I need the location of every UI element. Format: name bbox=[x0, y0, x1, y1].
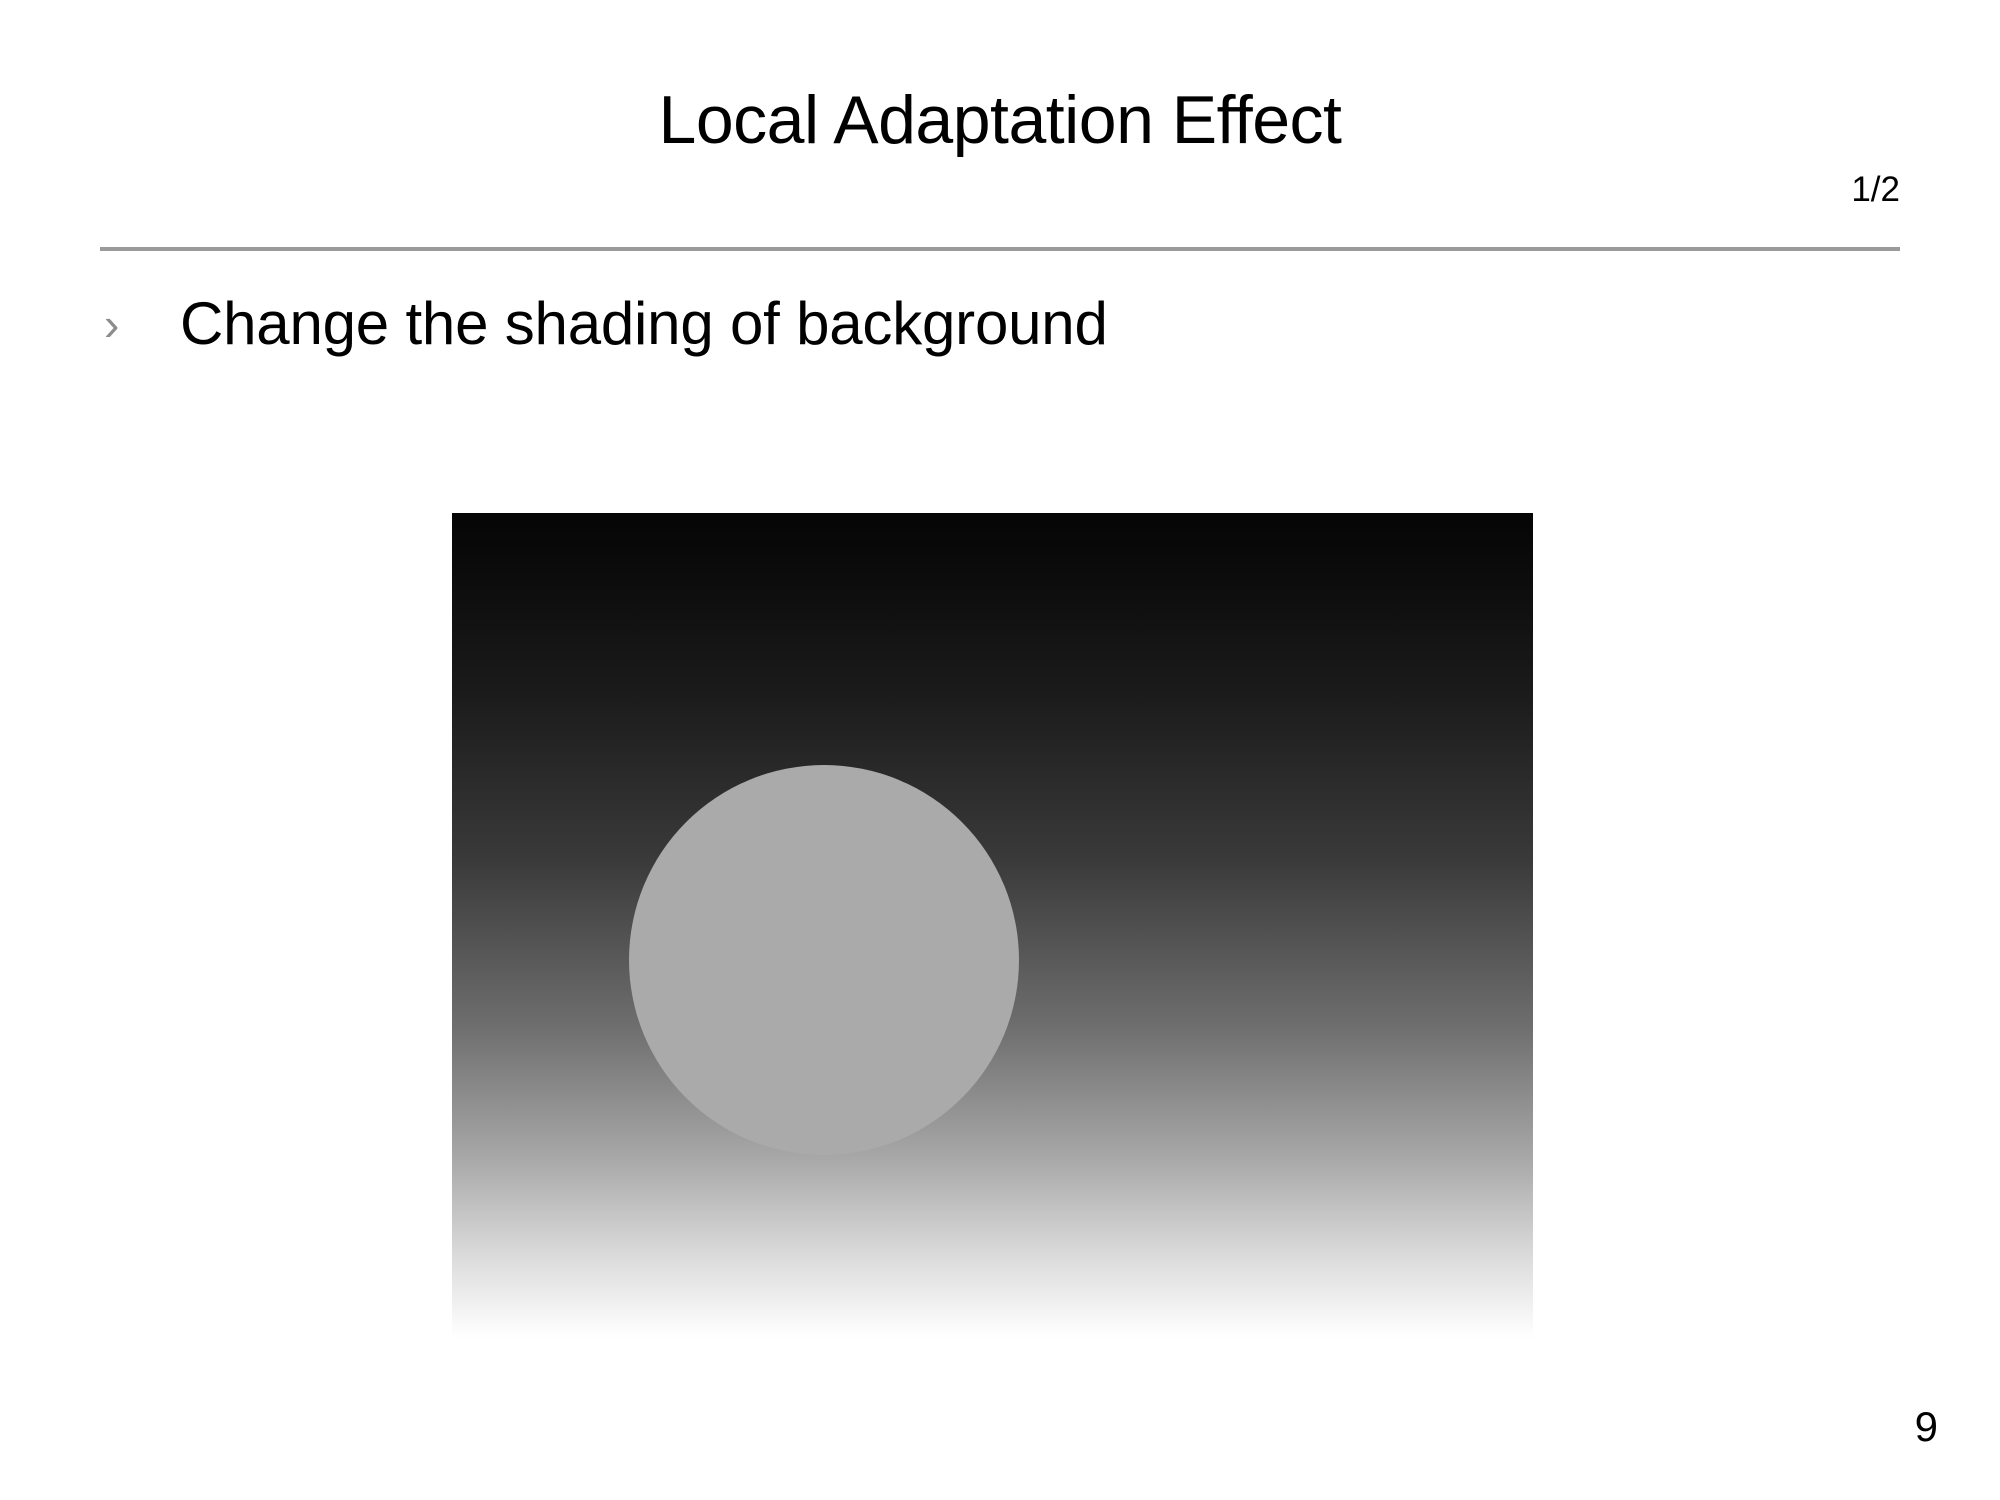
page-title: Local Adaptation Effect bbox=[0, 86, 2000, 154]
page-number: 9 bbox=[1915, 1406, 1938, 1448]
slide-counter: 1/2 bbox=[1851, 172, 1900, 207]
local-adaptation-figure bbox=[452, 513, 1533, 1341]
bullet-item-label: Change the shading of background bbox=[180, 288, 1108, 360]
gray-disc-shape bbox=[629, 765, 1019, 1155]
slide-canvas: Local Adaptation Effect 1/2 › Change the… bbox=[0, 0, 2000, 1500]
chevron-right-bullet-icon: › bbox=[96, 288, 180, 360]
bullet-list-item: › Change the shading of background bbox=[96, 288, 1108, 360]
title-divider bbox=[100, 247, 1900, 251]
